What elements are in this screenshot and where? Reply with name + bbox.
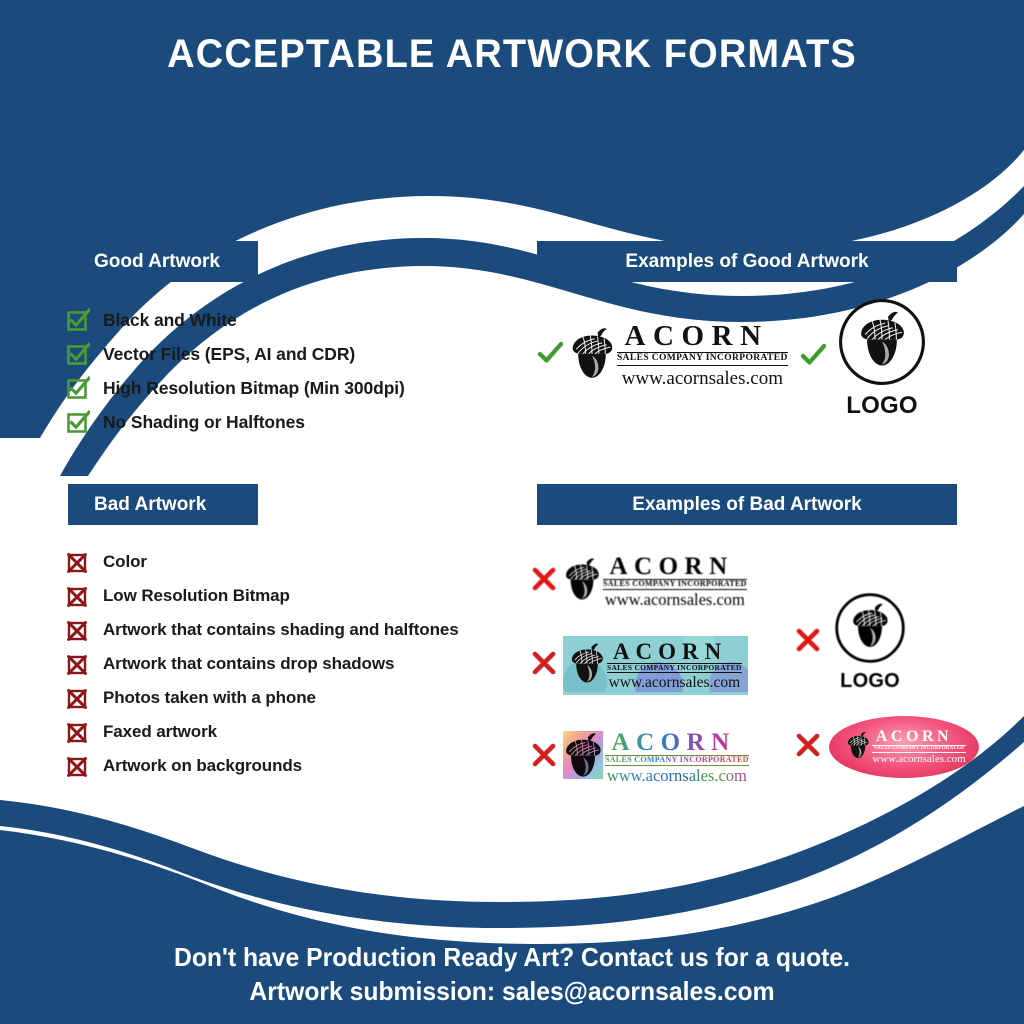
footer-line-1: Don't have Production Ready Art? Contact… [26,942,999,973]
acorn-tagline: SALES COMPANY INCORPORATED [605,755,749,766]
green-check-box-icon [66,308,90,332]
example-bad-wordmark-rainbow: ACORN SALES COMPANY INCORPORATED www.aco… [531,722,793,792]
acorn-name: ACORN [603,554,747,579]
acorn-badge-label: LOGO [846,392,918,420]
section-bar-examples-good: Examples of Good Artwork [537,241,957,282]
acorn-circle-badge-icon [836,296,928,393]
acorn-url: www.acornsales.com [603,592,747,609]
list-item-label: Black and White [103,310,237,331]
list-item: High Resolution Bitmap (Min 300dpi) [66,371,405,405]
red-x-box-icon [66,550,90,574]
list-item: Faxed artwork [66,715,459,749]
acorn-wordmark-text: ACORN SALES COMPANY INCORPORATED www.aco… [617,322,788,388]
section-bar-good-artwork-label: Good Artwork [94,251,220,273]
page-title: ACCEPTABLE ARTWORK FORMATS [26,32,999,77]
list-item: Black and White [66,303,405,337]
example-bad-badge-lowres: LOGO [795,592,955,692]
acorn-icon [569,641,605,690]
red-x-icon [795,627,821,658]
footer-line-2: Artwork submission: sales@acornsales.com [26,976,999,1007]
acorn-badge-label: LOGO [840,670,900,693]
red-x-box-icon [66,652,90,676]
good-artwork-list: Black and White Vector Files (EPS, AI an… [66,303,405,439]
green-check-icon [800,342,826,373]
example-good-badge: LOGO [800,300,960,415]
example-good-wordmark: ACORN SALES COMPANY INCORPORATED www.aco… [537,312,807,398]
list-item-label: Artwork that contains shading and halfto… [103,620,459,640]
list-item-label: High Resolution Bitmap (Min 300dpi) [103,378,405,399]
green-check-box-icon [66,342,90,366]
section-bar-bad-artwork-label: Bad Artwork [94,494,206,516]
red-x-box-icon [66,618,90,642]
section-bar-bad-artwork: Bad Artwork [68,484,258,525]
green-check-box-icon [66,376,90,400]
acorn-wordmark-lockup: ACORN SALES COMPANY INCORPORATED www.aco… [563,730,749,785]
red-x-icon [795,732,821,763]
example-bad-wordmark-teal-background: ACORN SALES COMPANY INCORPORATED www.aco… [531,634,793,696]
list-item-label: Faxed artwork [103,722,217,742]
example-bad-wordmark-lowres: ACORN SALES COMPANY INCORPORATED www.aco… [531,548,793,614]
section-bar-good-artwork: Good Artwork [68,241,258,282]
acorn-url: www.acornsales.com [605,768,749,785]
list-item-label: Color [103,552,147,572]
bad-artwork-list: Color Low Resolution Bitmap Artwork that… [66,545,459,783]
infographic-page: ACCEPTABLE ARTWORK FORMATS Good Artwork … [0,0,1024,1024]
red-x-icon [531,650,557,681]
list-item: Photos taken with a phone [66,681,459,715]
acorn-icon [563,556,601,607]
red-x-box-icon [66,584,90,608]
red-x-box-icon [66,754,90,778]
green-check-icon [537,340,563,371]
list-item: Low Resolution Bitmap [66,579,459,613]
list-item: No Shading or Halftones [66,405,405,439]
acorn-wordmark-text: ACORN SALES COMPANY INCORPORATED www.aco… [607,640,742,691]
acorn-url: www.acornsales.com [607,675,742,691]
acorn-wordmark-text: ACORN SALES COMPANY INCORPORATED www.aco… [603,554,747,609]
list-item: Artwork on backgrounds [66,749,459,783]
list-item: Color [66,545,459,579]
acorn-name: ACORN [607,640,742,663]
acorn-circle-badge-icon [833,591,907,670]
acorn-tagline: SALES COMPANY INCORPORATED [603,579,747,590]
example-bad-wordmark-pink-oval: ACORN SALES COMPANY INCORPORATED www.aco… [795,712,990,782]
acorn-wordmark-text: ACORN SALES COMPANY INCORPORATED www.aco… [605,730,749,785]
green-check-box-icon [66,410,90,434]
section-bar-examples-bad-label: Examples of Bad Artwork [632,494,861,516]
list-item: Vector Files (EPS, AI and CDR) [66,337,405,371]
red-x-box-icon [66,720,90,744]
acorn-badge-lockup: LOGO [833,591,907,693]
acorn-icon [563,730,603,785]
acorn-tagline: SALES COMPANY INCORPORATED [872,745,965,753]
red-x-icon [531,742,557,773]
section-bar-examples-good-label: Examples of Good Artwork [625,251,868,273]
acorn-wordmark-lockup: ACORN SALES COMPANY INCORPORATED www.aco… [569,322,788,388]
acorn-icon [569,325,615,386]
list-item-label: Photos taken with a phone [103,688,316,708]
list-item-label: Artwork on backgrounds [103,756,302,776]
list-item-label: Vector Files (EPS, AI and CDR) [103,344,355,365]
acorn-name: ACORN [872,729,965,745]
list-item-label: Low Resolution Bitmap [103,586,290,606]
list-item: Artwork that contains shading and halfto… [66,613,459,647]
acorn-wordmark-lockup: ACORN SALES COMPANY INCORPORATED www.aco… [829,716,979,778]
list-item-label: Artwork that contains drop shadows [103,654,394,674]
acorn-name: ACORN [617,322,788,351]
acorn-wordmark-lockup: ACORN SALES COMPANY INCORPORATED www.aco… [563,554,747,609]
acorn-icon [846,730,870,765]
acorn-tagline: SALES COMPANY INCORPORATED [607,663,742,674]
acorn-wordmark-lockup: ACORN SALES COMPANY INCORPORATED www.aco… [563,636,748,695]
acorn-wordmark-text: ACORN SALES COMPANY INCORPORATED www.aco… [872,729,965,766]
section-bar-examples-bad: Examples of Bad Artwork [537,484,957,525]
acorn-badge-lockup: LOGO [836,296,928,420]
list-item: Artwork that contains drop shadows [66,647,459,681]
acorn-tagline: SALES COMPANY INCORPORATED [617,352,788,366]
red-x-box-icon [66,686,90,710]
acorn-url: www.acornsales.com [872,754,965,765]
acorn-url: www.acornsales.com [617,369,788,388]
red-x-icon [531,566,557,597]
acorn-name: ACORN [605,730,749,755]
list-item-label: No Shading or Halftones [103,412,305,433]
